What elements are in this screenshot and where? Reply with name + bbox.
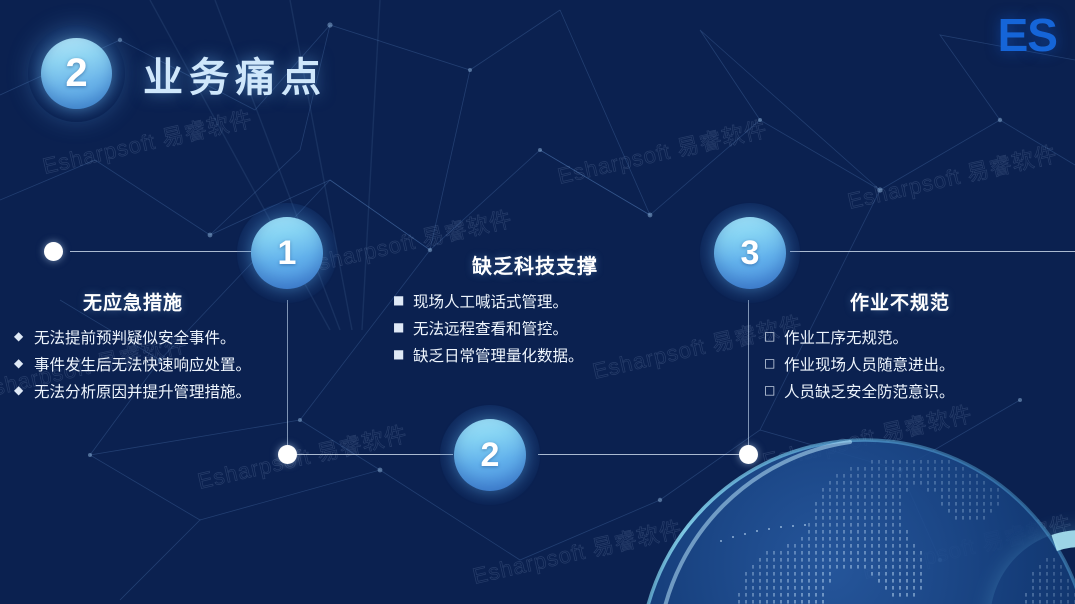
connector-line-vertical-left: [287, 300, 288, 450]
watermark-text: Esharpsoft 易睿软件: [554, 111, 770, 190]
bullet-text: 无法分析原因并提升管理措施。: [34, 379, 252, 406]
pain-point-column-3: 作业不规范 □ 作业工序无规范。 □ 作业现场人员随意进出。 □ 人员缺乏安全防…: [750, 288, 1050, 406]
bullet-list: ◆ 无法提前预判疑似安全事件。 ◆ 事件发生后无法快速响应处置。 ◆ 无法分析原…: [14, 325, 252, 406]
globe-decoration: [600, 420, 1075, 604]
bullet-list: □ 作业工序无规范。 □ 作业现场人员随意进出。 □ 人员缺乏安全防范意识。: [750, 325, 1050, 406]
square-bullet-icon: ■: [393, 343, 413, 366]
watermark-text: Esharpsoft 易睿软件: [759, 396, 975, 475]
slide-canvas: Esharpsoft 易睿软件 Esharpsoft 易睿软件 Esharpso…: [0, 0, 1075, 604]
hollow-square-bullet-icon: □: [764, 379, 784, 402]
globe-svg: [600, 420, 1075, 604]
bullet-text: 缺乏日常管理量化数据。: [413, 343, 685, 370]
watermark-text: Esharpsoft 易睿软件: [194, 416, 410, 495]
list-item: ■ 现场人工喊话式管理。: [393, 289, 685, 316]
list-item: ◆ 事件发生后无法快速响应处置。: [14, 352, 252, 379]
list-item: ◆ 无法提前预判疑似安全事件。: [14, 325, 252, 352]
list-item: ■ 无法远程查看和管控。: [393, 316, 685, 343]
step-number: 1: [237, 203, 337, 303]
column-heading: 作业不规范: [750, 288, 1050, 315]
pain-point-column-1: 无应急措施 ◆ 无法提前预判疑似安全事件。 ◆ 事件发生后无法快速响应处置。 ◆…: [14, 288, 252, 406]
connector-line-right-top: [790, 251, 1075, 252]
diamond-bullet-icon: ◆: [14, 325, 34, 348]
watermark-text: Esharpsoft 易睿软件: [844, 136, 1060, 215]
bullet-text: 事件发生后无法快速响应处置。: [34, 352, 252, 379]
bullet-text: 作业工序无规范。: [784, 325, 1050, 352]
cyan-arc-decoration: [959, 499, 1075, 604]
node-dot-left-top: [44, 242, 63, 261]
section-number-badge: 2: [28, 25, 125, 122]
pain-point-column-2: 缺乏科技支撑 ■ 现场人工喊话式管理。 ■ 无法远程查看和管控。 ■ 缺乏日常管…: [385, 250, 685, 370]
diamond-bullet-icon: ◆: [14, 379, 34, 402]
column-heading: 无应急措施: [14, 288, 252, 315]
bullet-text: 作业现场人员随意进出。: [784, 352, 1050, 379]
bullet-text: 现场人工喊话式管理。: [413, 289, 685, 316]
list-item: □ 作业工序无规范。: [764, 325, 1050, 352]
step-circle-1[interactable]: 1: [237, 203, 337, 303]
bullet-list: ■ 现场人工喊话式管理。 ■ 无法远程查看和管控。 ■ 缺乏日常管理量化数据。: [385, 289, 685, 370]
list-item: □ 人员缺乏安全防范意识。: [764, 379, 1050, 406]
square-bullet-icon: ■: [393, 316, 413, 339]
bullet-text: 人员缺乏安全防范意识。: [784, 379, 1050, 406]
watermark-text: Esharpsoft 易睿软件: [469, 511, 685, 590]
step-number: 2: [440, 405, 540, 505]
bullet-text: 无法远程查看和管控。: [413, 316, 685, 343]
square-bullet-icon: ■: [393, 289, 413, 312]
connector-line-bottom-left: [293, 454, 453, 455]
hollow-square-bullet-icon: □: [764, 352, 784, 375]
connector-line-vertical-right: [748, 300, 749, 450]
list-item: ■ 缺乏日常管理量化数据。: [393, 343, 685, 370]
list-item: □ 作业现场人员随意进出。: [764, 352, 1050, 379]
es-logo: ES: [998, 8, 1057, 62]
step-circle-2[interactable]: 2: [440, 405, 540, 505]
node-dot-bottom-right: [739, 445, 758, 464]
page-title: 业务痛点: [143, 45, 327, 103]
watermark-text: Esharpsoft 易睿软件: [859, 506, 1075, 585]
section-number-text: 2: [28, 25, 125, 122]
bullet-text: 无法提前预判疑似安全事件。: [34, 325, 252, 352]
node-dot-bottom-left: [278, 445, 297, 464]
diamond-bullet-icon: ◆: [14, 352, 34, 375]
column-heading: 缺乏科技支撑: [385, 250, 685, 279]
list-item: ◆ 无法分析原因并提升管理措施。: [14, 379, 252, 406]
hollow-square-bullet-icon: □: [764, 325, 784, 348]
connector-line-bottom-right: [538, 454, 746, 455]
